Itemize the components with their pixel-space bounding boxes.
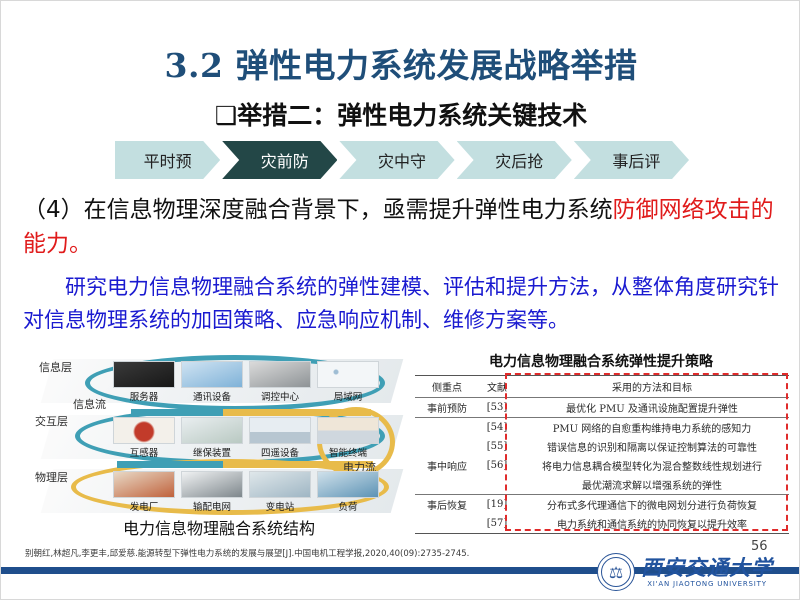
table-header-row: 侧重点 文献 采用的方法和目标 — [415, 376, 789, 398]
table-cell-reference: [57] — [479, 514, 515, 534]
body-paragraph-secondary: 研究电力信息物理融合系统的弹性建模、评估和提升方法，从整体角度研究针对信息物理系… — [23, 271, 785, 337]
table-cell-method: 电力系统和通信系统的协同恢复以提升效率 — [515, 514, 789, 534]
chevron-step-2-active[interactable]: 灾前防 — [222, 141, 337, 179]
citation-reference: 别朝红,林超凡,李更丰,邱爱慈.能源转型下弹性电力系统的发展与展望[J].中国电… — [25, 547, 469, 559]
table-cell-reference: [53] — [479, 398, 515, 418]
figure-item-load-label: 负荷 — [317, 499, 379, 513]
university-logo: ⚖ 西安交通大学 XI'AN JIAOTONG UNIVERSITY — [597, 549, 782, 595]
information-flow-bar-bottom — [117, 461, 235, 468]
figure-item-comm-device-label: 通讯设备 — [181, 389, 243, 403]
table-cell-reference: [54] — [479, 418, 515, 438]
figure-item-comm-device: 通讯设备 — [181, 361, 243, 403]
table-row: 事后恢复 [19] 分布式多代理通信下的微电网划分进行负荷恢复 — [415, 495, 789, 515]
process-chevron-strip: 平时预 灾前防 灾中守 灾后抢 事后评 — [115, 141, 691, 179]
table-cell-method: PMU 网络的自愈重构维持电力系统的感知力 — [515, 418, 789, 438]
table-cell-method: 将电力信息耦合模型转化为混合整数线性规划进行 — [515, 456, 789, 475]
table-cell-focus — [415, 475, 479, 495]
server-icon — [113, 361, 175, 388]
substation-icon — [249, 471, 311, 498]
university-name-en: XI'AN JIAOTONG UNIVERSITY — [641, 581, 773, 588]
table-header-method: 采用的方法和目标 — [515, 376, 789, 398]
table-body: 事前预防 [53] 最优化 PMU 及通讯设施配置提升弹性 [54] PMU 网… — [415, 398, 789, 534]
table-cell-reference — [479, 475, 515, 495]
figure-item-substation-label: 变电站 — [249, 499, 311, 513]
figure-item-power-plant: 发电厂 — [113, 471, 175, 513]
figure-item-relay: 继保装置 — [181, 417, 243, 459]
table-cell-reference: [55] — [479, 437, 515, 456]
body-paragraph-red-text-1: 防御 — [613, 197, 659, 223]
figure-caption: 电力信息物理融合系统结构 — [25, 515, 413, 539]
figure-item-lan: 局域网 — [317, 361, 379, 403]
table-header-reference: 文献 — [479, 376, 515, 398]
figure-item-transformer: 互感器 — [113, 417, 175, 459]
table-cell-focus: 事后恢复 — [415, 495, 479, 515]
figure-layer-label-information: 信息层 — [39, 359, 72, 375]
table-title: 电力信息物理融合系统弹性提升策略 — [413, 351, 789, 371]
table-cell-focus: 事前预防 — [415, 398, 479, 418]
university-seal-icon: ⚖ — [597, 553, 635, 591]
chevron-step-5-label: 事后评 — [612, 148, 660, 172]
figure-item-server: 服务器 — [113, 361, 175, 403]
page-title: 3.2 弹性电力系统发展战略举措 — [1, 39, 800, 87]
bullet-square-icon: ❑ — [215, 101, 237, 130]
chevron-step-2-label: 灾前防 — [261, 148, 309, 172]
resilience-strategy-table: 侧重点 文献 采用的方法和目标 事前预防 [53] 最优化 PMU 及通讯设施配… — [415, 375, 789, 534]
table-cell-method: 错误信息的识别和隔离以保证控制算法的可靠性 — [515, 437, 789, 456]
figure-item-control-center-label: 调控中心 — [249, 389, 311, 403]
figure-item-server-label: 服务器 — [113, 389, 175, 403]
figure-item-relay-label: 继保装置 — [181, 445, 243, 459]
figure-item-power-plant-label: 发电厂 — [113, 499, 175, 513]
city-load-icon — [317, 471, 379, 498]
slide-canvas: 3.2 弹性电力系统发展战略举措 ❑举措二：弹性电力系统关键技术 平时预 灾前防… — [0, 0, 800, 600]
chevron-step-3[interactable]: 灾中守 — [339, 141, 454, 179]
table-cell-focus — [415, 418, 479, 438]
table-row: [55] 错误信息的识别和隔离以保证控制算法的可靠性 — [415, 437, 789, 456]
university-name-cn: 西安交通大学 — [641, 557, 773, 578]
chevron-step-1[interactable]: 平时预 — [115, 141, 220, 179]
body-paragraph-primary: （4）在信息物理深度融合背景下，亟需提升弹性电力系统防御网络攻击的能力。 — [23, 193, 783, 261]
table-header-focus: 侧重点 — [415, 376, 479, 398]
table-row: [57] 电力系统和通信系统的协同恢复以提升效率 — [415, 514, 789, 534]
network-nodes-icon — [317, 361, 379, 388]
chevron-step-3-label: 灾中守 — [378, 148, 426, 172]
university-logo-text: 西安交通大学 XI'AN JIAOTONG UNIVERSITY — [641, 557, 773, 588]
figure-row-information: 服务器 通讯设备 调控中心 局域网 — [113, 361, 379, 403]
table-cell-method: 最优化 PMU 及通讯设施配置提升弹性 — [515, 398, 789, 418]
table-cell-reference: [19] — [479, 495, 515, 515]
table-cell-method: 分布式多代理通信下的微电网划分进行负荷恢复 — [515, 495, 789, 515]
figure-item-grid: 输配电网 — [181, 471, 243, 513]
chevron-step-4-label: 灾后抢 — [495, 148, 543, 172]
smart-terminal-icon — [317, 417, 379, 444]
satellite-dish-icon — [181, 361, 243, 388]
figure-flow-label-information: 信息流 — [73, 396, 106, 412]
chevron-step-4[interactable]: 灾后抢 — [457, 141, 572, 179]
figure-item-transformer-label: 互感器 — [113, 445, 175, 459]
table-cell-focus — [415, 514, 479, 534]
figure-row-interaction: 互感器 继保装置 四遥设备 智能终端 — [113, 417, 379, 459]
figure-item-lan-label: 局域网 — [317, 389, 379, 403]
figure-row-physical: 发电厂 输配电网 变电站 负荷 — [113, 471, 379, 513]
table-cell-method: 最优潮流求解以增强系统的弹性 — [515, 475, 789, 495]
figure-item-load: 负荷 — [317, 471, 379, 513]
relay-device-icon — [181, 417, 243, 444]
table-cell-focus: 事中响应 — [415, 456, 479, 475]
figure-item-substation: 变电站 — [249, 471, 311, 513]
control-room-icon — [249, 361, 311, 388]
page-subtitle-text: 举措二：弹性电力系统关键技术 — [237, 101, 587, 130]
table-row: 最优潮流求解以增强系统的弹性 — [415, 475, 789, 495]
chevron-step-1-label: 平时预 — [144, 148, 192, 172]
body-paragraph-black-text: （4）在信息物理深度融合背景下，亟需提升弹性电力系统 — [23, 197, 613, 223]
figure-item-telemetry-label: 四遥设备 — [249, 445, 311, 459]
figure-item-control-center: 调控中心 — [249, 361, 311, 403]
figure-item-telemetry: 四遥设备 — [249, 417, 311, 459]
power-plant-icon — [113, 471, 175, 498]
chevron-step-5[interactable]: 事后评 — [574, 141, 689, 179]
figure-item-grid-label: 输配电网 — [181, 499, 243, 513]
page-subtitle: ❑举措二：弹性电力系统关键技术 — [1, 96, 800, 132]
table-row: 事中响应 [56] 将电力信息耦合模型转化为混合整数线性规划进行 — [415, 456, 789, 475]
figure-item-smart-terminal: 智能终端 — [317, 417, 379, 459]
table-row: 事前预防 [53] 最优化 PMU 及通讯设施配置提升弹性 — [415, 398, 789, 418]
table-cell-reference: [56] — [479, 456, 515, 475]
figure-item-smart-terminal-label: 智能终端 — [317, 445, 379, 459]
power-flow-bar-top — [223, 409, 371, 416]
table-row: [54] PMU 网络的自愈重构维持电力系统的感知力 — [415, 418, 789, 438]
figure-layer-label-interaction: 交互层 — [35, 413, 68, 429]
current-transformer-icon — [113, 417, 175, 444]
telemetry-panel-icon — [249, 417, 311, 444]
seal-glyph-icon: ⚖ — [598, 554, 634, 590]
table-cell-focus — [415, 437, 479, 456]
transmission-tower-icon — [181, 471, 243, 498]
figure-layer-label-physical: 物理层 — [35, 469, 68, 485]
figure-canvas: 信息层 交互层 物理层 信息流 电力流 服务器 通讯设备 调控中心 — [25, 351, 413, 519]
